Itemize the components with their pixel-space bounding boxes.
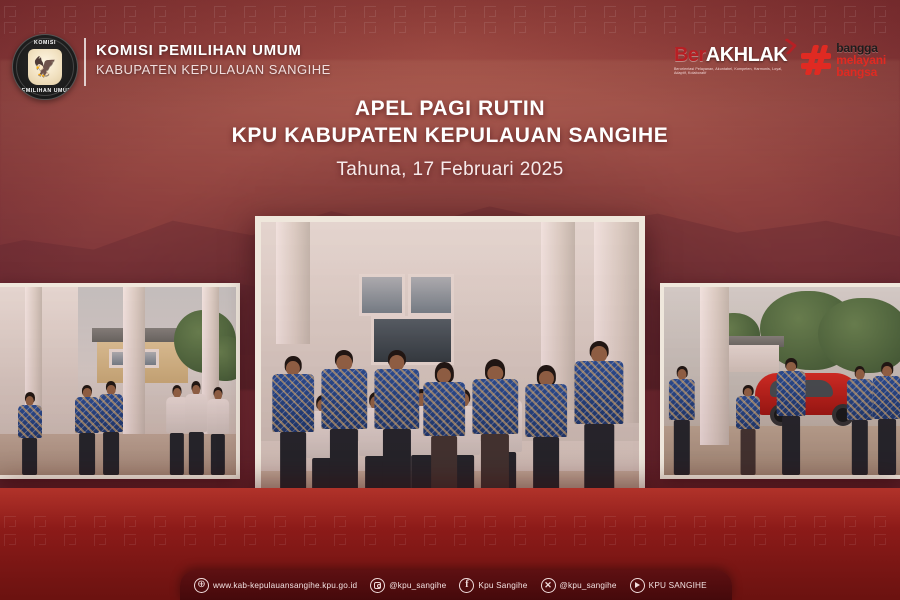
photo-left-color-tone [0, 287, 236, 475]
batik-motif-cell [120, 532, 150, 548]
batik-motif-cell [120, 514, 150, 530]
batik-motif-cell [270, 514, 300, 530]
batik-motif-cell [180, 514, 210, 530]
header-divider [84, 38, 86, 86]
batik-motif-cell [630, 514, 660, 530]
batik-motif-cell [750, 514, 780, 530]
batik-motif-cell [30, 514, 60, 530]
batik-motif-cell [480, 514, 510, 530]
batik-motif-cell [660, 532, 690, 548]
batik-motif-cell [300, 532, 330, 548]
poster-title-block: APEL PAGI RUTIN KPU KABUPATEN KEPULAUAN … [0, 96, 900, 181]
batik-motif-cell [390, 514, 420, 530]
event-title-line-1: APEL PAGI RUTIN [0, 96, 900, 123]
batik-motif-cell [720, 514, 750, 530]
garuda-emblem-icon: KOMISI 🦅 PEMILIHAN UMUM [12, 34, 78, 100]
batik-motif-cell [690, 514, 720, 530]
batik-motif-cell [660, 514, 690, 530]
organization-title: KOMISI PEMILIHAN UMUM [96, 42, 331, 59]
batik-motif-cell [450, 532, 480, 548]
batik-motif-cell [840, 532, 870, 548]
event-title-line-2: KPU KABUPATEN KEPULAUAN SANGIHE [0, 123, 900, 150]
berakhlak-logo: BerAKHLAK Berorientasi Pelayanan, Akunta… [674, 45, 787, 77]
instagram-icon[interactable] [370, 578, 385, 593]
batik-motif-cell [780, 532, 810, 548]
footer-item[interactable]: fKpu Sangihe [459, 578, 527, 593]
batik-motif-cell [600, 532, 630, 548]
batik-motif-cell [240, 532, 270, 548]
batik-motif-cell [780, 514, 810, 530]
batik-motif-cell [210, 514, 240, 530]
batik-motif-cell [420, 514, 450, 530]
batik-motif-cell [450, 514, 480, 530]
batik-motif-cell [510, 514, 540, 530]
bangga-melayani-bangsa-logo: bangga melayani bangsa [801, 42, 886, 79]
batik-motif-cell [360, 532, 390, 548]
footer-item[interactable]: KPU SANGIHE [630, 578, 707, 593]
emblem-arc-top-label: KOMISI [13, 40, 77, 46]
batik-motif-cell [240, 514, 270, 530]
youtube-icon[interactable] [630, 578, 645, 593]
batik-motif-cell [150, 532, 180, 548]
batik-motif-cell [540, 514, 570, 530]
batik-motif-cell [270, 532, 300, 548]
photo-right-color-tone [664, 287, 900, 475]
bangga-wordmark: bangga melayani bangsa [836, 42, 886, 79]
poster-canvas: KOMISI 🦅 PEMILIHAN UMUM KOMISI PEMILIHAN… [0, 0, 900, 600]
event-date-location: Tahuna, 17 Februari 2025 [0, 159, 900, 181]
bangga-line-3: bangsa [836, 66, 886, 78]
garuda-bird-icon: 🦅 [33, 58, 57, 77]
facebook-icon[interactable]: f [459, 578, 474, 593]
batik-motif-cell [570, 532, 600, 548]
hash-mark-icon [801, 45, 831, 75]
footer-item-label: Kpu Sangihe [478, 581, 527, 590]
footer-item-label: www.kab-kepulauansangihe.kpu.go.id [213, 581, 357, 590]
photo-center [255, 216, 645, 532]
footer-item[interactable]: ⊕www.kab-kepulauansangihe.kpu.go.id [194, 578, 357, 593]
footer-item-label: @kpu_sangihe [560, 581, 617, 590]
poster-header: KOMISI 🦅 PEMILIHAN UMUM KOMISI PEMILIHAN… [0, 0, 900, 100]
batik-motif-cell [810, 514, 840, 530]
berakhlak-prefix: Ber [674, 44, 706, 66]
batik-motif-cell [630, 532, 660, 548]
berakhlak-suffix: AKHLAK [706, 44, 787, 66]
batik-motif-cell [540, 532, 570, 548]
brand-logo-group: BerAKHLAK Berorientasi Pelayanan, Akunta… [674, 42, 886, 79]
batik-motif-cell [510, 532, 540, 548]
photo-right [660, 283, 900, 479]
batik-motif-cell [870, 532, 900, 548]
photo-left [0, 283, 240, 479]
batik-motif-cell [180, 532, 210, 548]
emblem-arc-bottom-label: PEMILIHAN UMUM [13, 88, 77, 94]
batik-motif-cell [810, 532, 840, 548]
batik-motif-cell [330, 532, 360, 548]
footer-item-label: @kpu_sangihe [389, 581, 446, 590]
batik-motif-cell [360, 514, 390, 530]
globe-icon[interactable]: ⊕ [194, 578, 209, 593]
batik-motif-cell [690, 532, 720, 548]
berakhlak-tagline: Berorientasi Pelayanan, Akuntabel, Kompe… [674, 67, 786, 77]
batik-motif-cell [300, 514, 330, 530]
batik-motif-cell [60, 532, 90, 548]
footer-item-label: KPU SANGIHE [649, 581, 707, 590]
x-twitter-icon[interactable]: ✕ [541, 578, 556, 593]
organization-subtitle: KABUPATEN KEPULAUAN SANGIHE [96, 62, 331, 77]
batik-motif-cell [480, 532, 510, 548]
batik-motif-cell [390, 532, 420, 548]
batik-motif-cell [0, 514, 30, 530]
batik-motif-cell [420, 532, 450, 548]
batik-motif-cell [720, 532, 750, 548]
batik-motif-cell [0, 532, 30, 548]
batik-motif-cell [60, 514, 90, 530]
batik-motif-cell [30, 532, 60, 548]
batik-motif-cell [210, 532, 240, 548]
batik-motif-cell [90, 532, 120, 548]
footer-item[interactable]: @kpu_sangihe [370, 578, 446, 593]
batik-motif-cell [330, 514, 360, 530]
header-text-group: KOMISI PEMILIHAN UMUM KABUPATEN KEPULAUA… [96, 42, 331, 77]
footer-social-bar: ⊕www.kab-kepulauansangihe.kpu.go.id@kpu_… [180, 570, 732, 600]
batik-motif-cell [570, 514, 600, 530]
batik-motif-cell [750, 532, 780, 548]
batik-motif-cell [600, 514, 630, 530]
batik-motif-cell [840, 514, 870, 530]
footer-item[interactable]: ✕@kpu_sangihe [541, 578, 617, 593]
batik-motif-cell [90, 514, 120, 530]
kpu-logo: KOMISI 🦅 PEMILIHAN UMUM [12, 34, 78, 100]
berakhlak-wordmark: BerAKHLAK [674, 45, 787, 65]
photo-center-color-tone [261, 222, 639, 526]
batik-motif-cell [870, 514, 900, 530]
batik-motif-cell [150, 514, 180, 530]
